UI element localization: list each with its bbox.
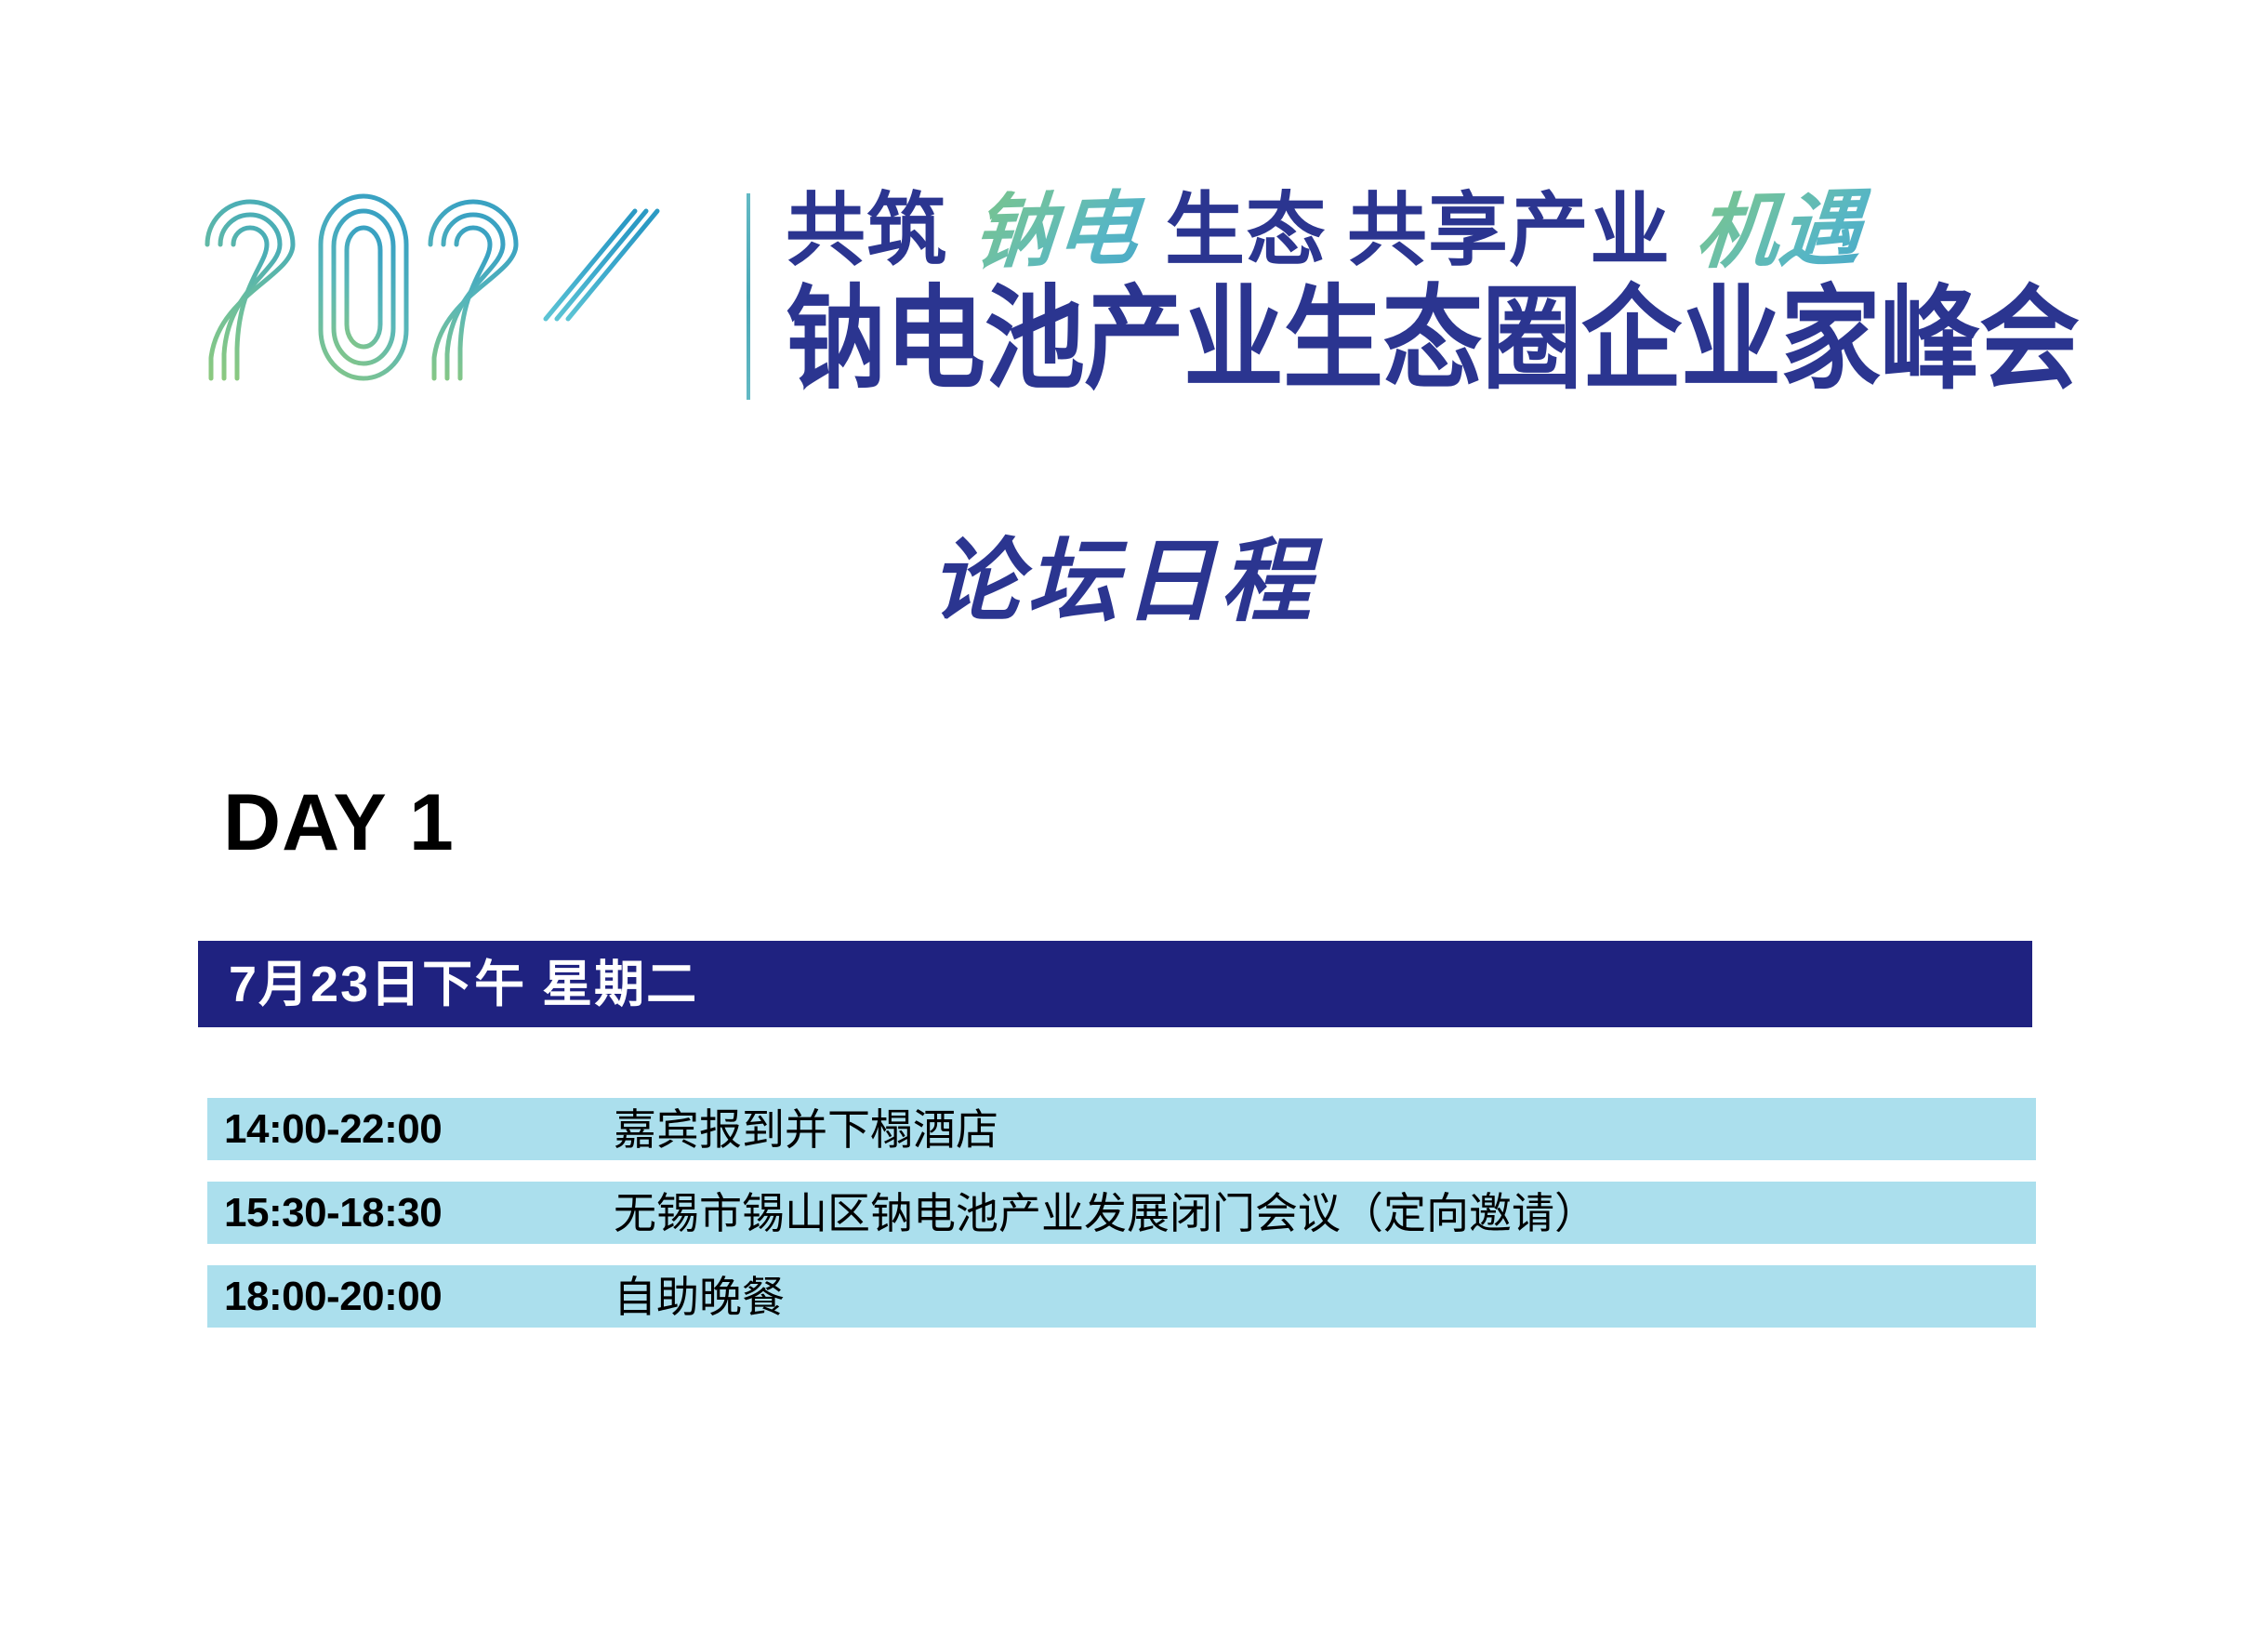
schedule-description: 嘉宾报到并下榻酒店 [614, 1108, 998, 1151]
tagline-segment-3: 生态 [1165, 191, 1327, 271]
tagline-segment-2: 钠电 [964, 187, 1147, 273]
page-title: 论坛日程 [0, 532, 2247, 632]
date-banner-label: 7月23日下午 星期二 [198, 959, 698, 1010]
tagline-row: 共筑 钠电 生态 共享产业 机遇 [786, 177, 1868, 284]
tagline-segment-5: 机遇 [1687, 187, 1870, 273]
schedule-time: 15:30-18:30 [224, 1193, 442, 1234]
schedule-list: 14:00-22:00 嘉宾报到并下榻酒店 15:30-18:30 无锡市锡山区… [207, 1098, 2036, 1349]
header-lockup: 共筑 钠电 生态 共享产业 机遇 钠电池产业生态圈企业家峰会 [0, 0, 2247, 437]
schedule-description: 无锡市锡山区钠电池产业发展闭门会议（定向邀请） [614, 1192, 1597, 1235]
tagline-segment-1: 共筑 [786, 191, 947, 271]
schedule-row: 14:00-22:00 嘉宾报到并下榻酒店 [207, 1098, 2036, 1160]
date-banner: 7月23日下午 星期二 [198, 941, 2032, 1027]
schedule-time: 18:00-20:00 [224, 1276, 442, 1317]
vertical-divider-icon [747, 193, 750, 400]
schedule-row: 18:00-20:00 自助晚餐 [207, 1265, 2036, 1328]
year-2024-logo-icon [191, 172, 739, 404]
schedule-time: 14:00-22:00 [224, 1109, 442, 1150]
slide-canvas: 共筑 钠电 生态 共享产业 机遇 钠电池产业生态圈企业家峰会 论坛日程 DAY … [0, 0, 2247, 1652]
schedule-description: 自助晚餐 [614, 1275, 785, 1318]
schedule-row: 15:30-18:30 无锡市锡山区钠电池产业发展闭门会议（定向邀请） [207, 1182, 2036, 1244]
tagline-segment-4: 共享产业 [1347, 191, 1671, 271]
event-main-title: 钠电池产业生态圈企业家峰会 [786, 279, 2079, 401]
day-heading: DAY 1 [223, 779, 455, 867]
